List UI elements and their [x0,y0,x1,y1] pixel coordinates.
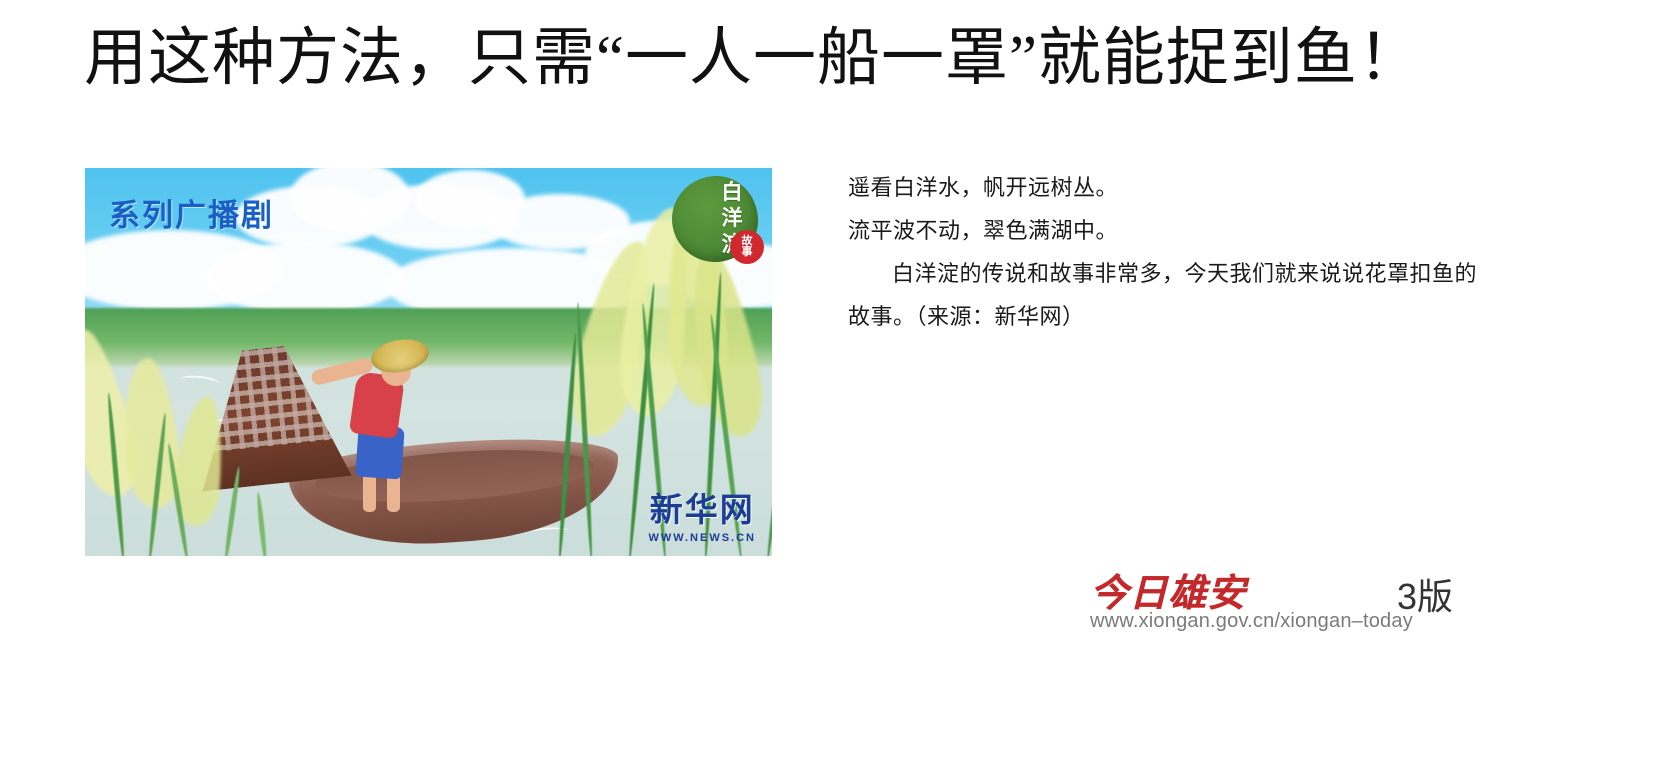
story-badge: 故 事 [730,230,764,264]
brand-logo: 今日雄安 [1090,562,1246,617]
poem-line-2: 流平波不动，翠色满湖中。 [848,209,1488,252]
series-label: 系列广播剧 [109,190,274,235]
watermark-url: WWW.NEWS.CN [648,532,756,544]
article-paragraph: 白洋淀的传说和故事非常多，今天我们就来说说花罩扣鱼的故事。（来源：新华网） [848,252,1488,338]
footer: 今日雄安 www.xiongan.gov.cn/xiongan–today 3版 [1090,562,1490,642]
page-number: 3版 [1397,568,1453,620]
article-illustration: 系列广播剧 白洋淀 故 事 新华网 WWW.NEWS.CN [85,168,772,556]
poem-line-1: 遥看白洋水，帆开远树丛。 [848,166,1488,209]
story-badge-char-2: 事 [742,247,753,258]
watermark-name: 新华网 [648,483,756,531]
brand-url: www.xiongan.gov.cn/xiongan–today [1090,610,1413,633]
watermark: 新华网 WWW.NEWS.CN [648,483,756,544]
page-title: 用这种方法，只需“一人一船一罩”就能捉到鱼！ [84,16,1484,100]
cloud-shape [205,242,405,314]
article-body: 遥看白洋水，帆开远树丛。 流平波不动，翠色满湖中。 白洋淀的传说和故事非常多，今… [848,166,1488,338]
fisherman-leg-left [363,472,376,512]
